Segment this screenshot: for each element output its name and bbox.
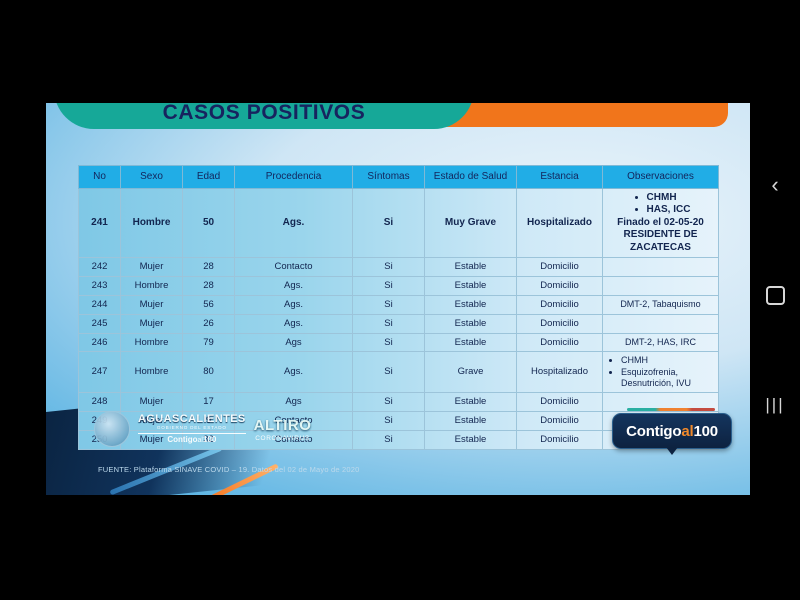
cell-sintomas: Si	[353, 393, 425, 412]
cell-edad: 17	[183, 393, 235, 412]
col-header-no: No	[79, 166, 121, 189]
badge-text: Contigoal100	[626, 423, 718, 440]
logo-divider	[138, 433, 246, 434]
cell-edad: 28	[183, 258, 235, 277]
state-tagline: Contigoal100	[167, 436, 216, 444]
cell-edad: 80	[183, 352, 235, 393]
cell-sintomas: Si	[353, 258, 425, 277]
cell-sintomas: Si	[353, 333, 425, 352]
cell-no: 242	[79, 258, 121, 277]
cell-estado-salud: Estable	[425, 258, 517, 277]
table-row: 242Mujer28ContactoSiEstableDomicilio	[79, 258, 719, 277]
observation-line: ZACATECAS	[605, 242, 716, 255]
cell-estado-salud: Estable	[425, 276, 517, 295]
observation-line: DMT-2, HAS, IRC	[605, 337, 716, 348]
back-chevron-icon[interactable]: ‹	[750, 163, 800, 207]
cell-estancia: Domicilio	[517, 314, 603, 333]
table-row: 241Hombre50Ags.SiMuy GraveHospitalizadoC…	[79, 188, 719, 258]
cell-procedencia: Ags.	[235, 276, 353, 295]
col-header-estancia: Estancia	[517, 166, 603, 189]
observation-bullet: CHMH	[647, 192, 691, 205]
cell-estado-salud: Estable	[425, 393, 517, 412]
contigo-al-100-badge: Contigoal100	[612, 413, 732, 449]
cell-sexo: Hombre	[121, 276, 183, 295]
observation-bullet-list: CHMHHAS, ICC	[631, 192, 691, 217]
cell-sintomas: Si	[353, 430, 425, 449]
cell-procedencia: Ags.	[235, 314, 353, 333]
cell-no: 245	[79, 314, 121, 333]
header-banner-teal: CASOS POSITIVOS	[54, 103, 474, 129]
cell-sintomas: Si	[353, 276, 425, 295]
table-row: 248Mujer17AgsSiEstableDomicilio	[79, 393, 719, 412]
altiro-name: ALTIRO	[254, 417, 312, 434]
phone-screen: CASOS POSITIVOS No Sexo Edad Procedencia…	[0, 0, 800, 600]
cell-estancia: Domicilio	[517, 412, 603, 431]
cases-table-wrap: No Sexo Edad Procedencia Síntomas Estado…	[78, 165, 718, 450]
cell-no: 243	[79, 276, 121, 295]
cell-edad: 50	[183, 188, 235, 258]
cell-estado-salud: Estable	[425, 430, 517, 449]
table-row: 246Hombre79AgsSiEstableDomicilioDMT-2, H…	[79, 333, 719, 352]
cell-no: 244	[79, 295, 121, 314]
cell-sexo: Mujer	[121, 393, 183, 412]
cell-estancia: Domicilio	[517, 295, 603, 314]
table-header-row: No Sexo Edad Procedencia Síntomas Estado…	[79, 166, 719, 189]
cell-sintomas: Si	[353, 188, 425, 258]
cell-no: 246	[79, 333, 121, 352]
cell-no: 241	[79, 188, 121, 258]
cell-procedencia: Contacto	[235, 258, 353, 277]
observation-bullet: Esquizofrenia, Desnutrición, IVU	[621, 367, 716, 390]
observation-line: RESIDENTE DE	[605, 229, 716, 242]
cell-procedencia: Ags	[235, 333, 353, 352]
cell-procedencia: Ags.	[235, 295, 353, 314]
home-square-shape	[766, 286, 785, 305]
cell-sexo: Hombre	[121, 352, 183, 393]
table-row: 243Hombre28Ags.SiEstableDomicilio	[79, 276, 719, 295]
cell-no: 248	[79, 393, 121, 412]
cell-estancia: Domicilio	[517, 276, 603, 295]
badge-color-bar	[627, 408, 715, 411]
cell-estado-salud: Muy Grave	[425, 188, 517, 258]
altiro-subtitle: CORONAVIRUS	[255, 435, 310, 442]
cell-edad: 26	[183, 314, 235, 333]
col-header-edad: Edad	[183, 166, 235, 189]
cell-observaciones: CHMHEsquizofrenia, Desnutrición, IVU	[603, 352, 719, 393]
video-player-surface[interactable]: CASOS POSITIVOS No Sexo Edad Procedencia…	[46, 103, 750, 495]
cell-estado-salud: Grave	[425, 352, 517, 393]
source-note: FUENTE: Plataforma SINAVE COVID – 19. Da…	[98, 465, 360, 474]
cell-sexo: Hombre	[121, 188, 183, 258]
cell-estancia: Domicilio	[517, 393, 603, 412]
cell-estado-salud: Estable	[425, 314, 517, 333]
cell-no: 247	[79, 352, 121, 393]
table-row: 245Mujer26Ags.SiEstableDomicilio	[79, 314, 719, 333]
cell-procedencia: Ags	[235, 393, 353, 412]
observation-bullet: HAS, ICC	[647, 204, 691, 217]
cell-sexo: Mujer	[121, 314, 183, 333]
home-square-icon[interactable]	[750, 273, 800, 317]
government-logos: AGUASCALIENTES GOBIERNO DEL ESTADO Conti…	[94, 411, 311, 447]
cell-observaciones	[603, 258, 719, 277]
android-navigation-bar: ‹ |||	[750, 103, 800, 495]
state-name: AGUASCALIENTES	[138, 414, 246, 425]
cell-observaciones	[603, 314, 719, 333]
cell-sexo: Mujer	[121, 295, 183, 314]
cell-edad: 56	[183, 295, 235, 314]
cell-estado-salud: Estable	[425, 412, 517, 431]
cell-edad: 79	[183, 333, 235, 352]
cell-observaciones: CHMHHAS, ICCFinado el 02-05-20RESIDENTE …	[603, 188, 719, 258]
cell-sintomas: Si	[353, 412, 425, 431]
cell-sintomas: Si	[353, 352, 425, 393]
cell-estado-salud: Estable	[425, 295, 517, 314]
col-header-procedencia: Procedencia	[235, 166, 353, 189]
cell-estancia: Domicilio	[517, 258, 603, 277]
badge-pointer	[666, 447, 678, 455]
col-header-estado-salud: Estado de Salud	[425, 166, 517, 189]
cell-estancia: Domicilio	[517, 430, 603, 449]
cell-estancia: Domicilio	[517, 333, 603, 352]
state-subtitle: GOBIERNO DEL ESTADO	[157, 426, 227, 431]
cell-estancia: Hospitalizado	[517, 352, 603, 393]
cell-estado-salud: Estable	[425, 333, 517, 352]
cell-sexo: Hombre	[121, 333, 183, 352]
recents-bars-icon[interactable]: |||	[750, 383, 800, 427]
page-title: CASOS POSITIVOS	[163, 103, 366, 125]
cell-observaciones	[603, 276, 719, 295]
col-header-sintomas: Síntomas	[353, 166, 425, 189]
observation-line: DMT-2, Tabaquismo	[605, 299, 716, 310]
cell-procedencia: Ags.	[235, 188, 353, 258]
table-row: 247Hombre80Ags.SiGraveHospitalizadoCHMHE…	[79, 352, 719, 393]
cell-sintomas: Si	[353, 295, 425, 314]
table-row: 244Mujer56Ags.SiEstableDomicilioDMT-2, T…	[79, 295, 719, 314]
cell-sexo: Mujer	[121, 258, 183, 277]
cell-edad: 28	[183, 276, 235, 295]
observation-bullet-list: CHMHEsquizofrenia, Desnutrición, IVU	[605, 355, 716, 389]
cell-observaciones: DMT-2, Tabaquismo	[603, 295, 719, 314]
observation-bullet: CHMH	[621, 355, 716, 366]
altiro-logo: ALTIRO CORONAVIRUS	[254, 417, 312, 442]
positive-cases-table: No Sexo Edad Procedencia Síntomas Estado…	[78, 165, 719, 450]
state-seal-icon	[94, 411, 130, 447]
col-header-sexo: Sexo	[121, 166, 183, 189]
observation-line: Finado el 02-05-20	[605, 217, 716, 230]
cell-estancia: Hospitalizado	[517, 188, 603, 258]
cell-observaciones: DMT-2, HAS, IRC	[603, 333, 719, 352]
cell-procedencia: Ags.	[235, 352, 353, 393]
cell-sintomas: Si	[353, 314, 425, 333]
aguascalientes-logo: AGUASCALIENTES GOBIERNO DEL ESTADO Conti…	[138, 414, 246, 444]
col-header-observaciones: Observaciones	[603, 166, 719, 189]
